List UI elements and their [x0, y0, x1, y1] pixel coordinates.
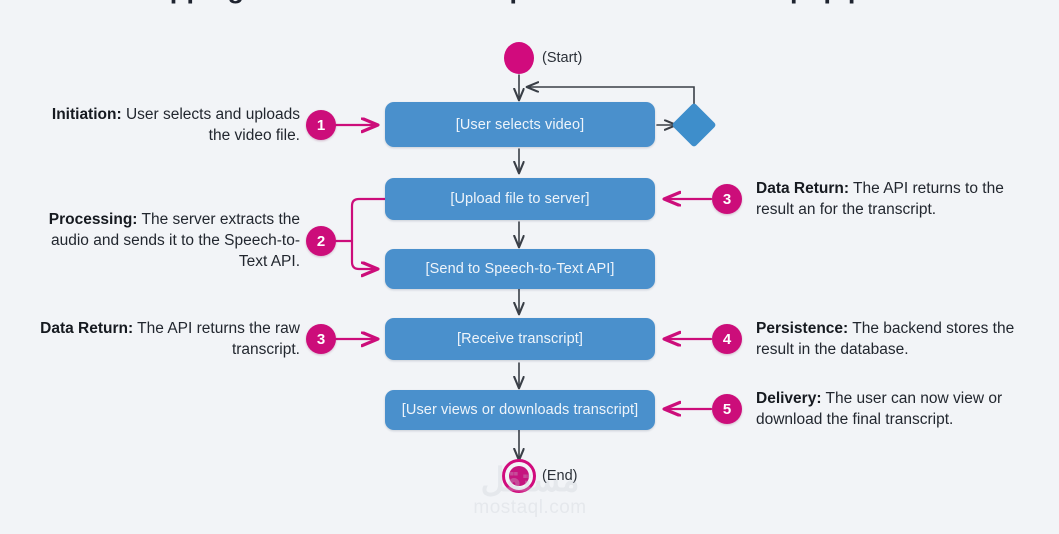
annotation-left-3: Data Return: The API returns the raw tra…	[40, 318, 300, 360]
badge-number: 3	[317, 331, 325, 348]
start-node	[504, 42, 534, 74]
badge-3-right[interactable]: 3	[712, 184, 742, 214]
badge-number: 2	[317, 233, 325, 250]
annotation-title: Data Return:	[40, 320, 133, 337]
end-node-label: (End)	[542, 468, 577, 484]
badge-2[interactable]: 2	[306, 226, 336, 256]
node-label: [Receive transcript]	[457, 331, 583, 347]
badge-3-left[interactable]: 3	[306, 324, 336, 354]
annotation-title: Data Return:	[756, 180, 849, 197]
node-label: [User selects video]	[456, 117, 585, 133]
pointer-2-upper	[352, 199, 387, 241]
badge-number: 1	[317, 117, 325, 134]
decision-diamond[interactable]	[671, 102, 716, 147]
node-label: [Upload file to server]	[450, 191, 589, 207]
annotation-body: The API returns the raw transcript.	[133, 320, 300, 358]
node-user-selects-video[interactable]: [User selects video]	[385, 102, 655, 147]
annotation-title: Initiation:	[52, 106, 122, 123]
badge-number: 3	[723, 191, 731, 208]
diagram-canvas: Mapping the workflow for a speech-to-tex…	[0, 0, 1059, 534]
badge-4[interactable]: 4	[712, 324, 742, 354]
pointer-2-lower	[352, 241, 377, 269]
node-label: [Send to Speech-to-Text API]	[426, 261, 615, 277]
badge-5[interactable]: 5	[712, 394, 742, 424]
annotation-left-2: Processing: The server extracts the audi…	[26, 209, 300, 272]
node-label: [User views or downloads transcript]	[402, 402, 639, 418]
annotation-right-3: Data Return: The API returns to the resu…	[756, 178, 1031, 220]
node-user-views-or-downloads-transcript[interactable]: [User views or downloads transcript]	[385, 390, 655, 430]
node-upload-file-to-server[interactable]: [Upload file to server]	[385, 178, 655, 220]
annotation-title: Persistence:	[756, 320, 848, 337]
annotation-left-1: Initiation: User selects and uploads the…	[40, 104, 300, 146]
annotation-right-5: Delivery: The user can now view or downl…	[756, 388, 1036, 430]
annotation-title: Delivery:	[756, 390, 821, 407]
badge-1[interactable]: 1	[306, 110, 336, 140]
badge-number: 4	[723, 331, 731, 348]
end-node	[502, 459, 536, 493]
annotation-title: Processing:	[49, 211, 138, 228]
start-node-label: (Start)	[542, 50, 582, 66]
badge-number: 5	[723, 401, 731, 418]
annotation-right-4: Persistence: The backend stores the resu…	[756, 318, 1036, 360]
node-send-to-speech-to-text-api[interactable]: [Send to Speech-to-Text API]	[385, 249, 655, 289]
watermark-latin: mostaql.com	[440, 497, 620, 519]
annotation-body: User selects and uploads the video file.	[122, 106, 300, 144]
node-receive-transcript[interactable]: [Receive transcript]	[385, 318, 655, 360]
page-title: Mapping the workflow for a speech-to-tex…	[0, 0, 1059, 8]
